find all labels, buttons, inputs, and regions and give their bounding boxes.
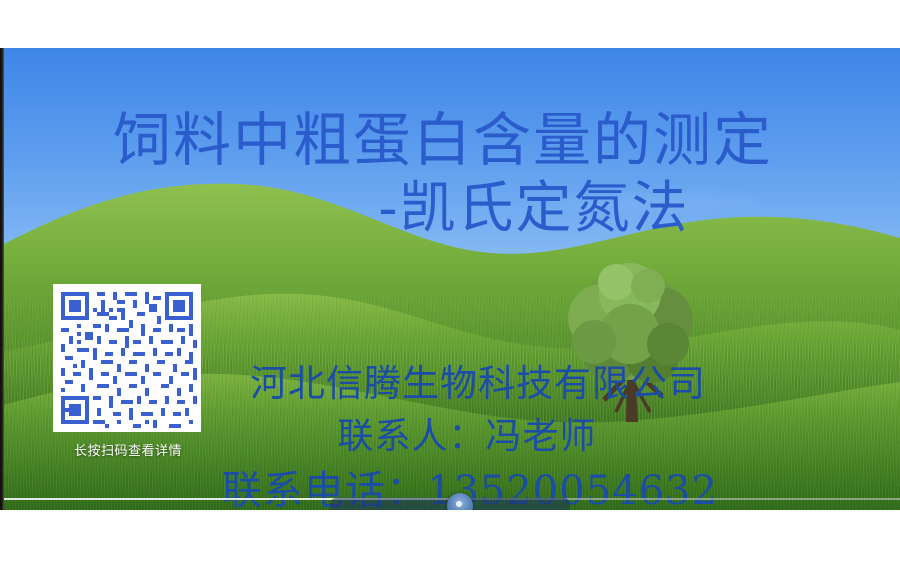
qr-code-icon[interactable] (53, 284, 201, 432)
tree-icon (556, 262, 706, 422)
scrubber-center-dot (456, 501, 462, 507)
video-left-bezel (0, 48, 4, 510)
player-controls[interactable] (0, 496, 900, 510)
video-canvas[interactable]: 饲料中粗蛋白含量的测定 -凯氏定氮法 (0, 48, 900, 510)
video-player: 饲料中粗蛋白含量的测定 -凯氏定氮法 (0, 0, 900, 561)
qr-code-block[interactable]: 长按扫码查看详情 (53, 284, 203, 460)
playback-scrubber-handle[interactable] (447, 493, 473, 510)
qr-caption: 长按扫码查看详情 (53, 444, 203, 460)
